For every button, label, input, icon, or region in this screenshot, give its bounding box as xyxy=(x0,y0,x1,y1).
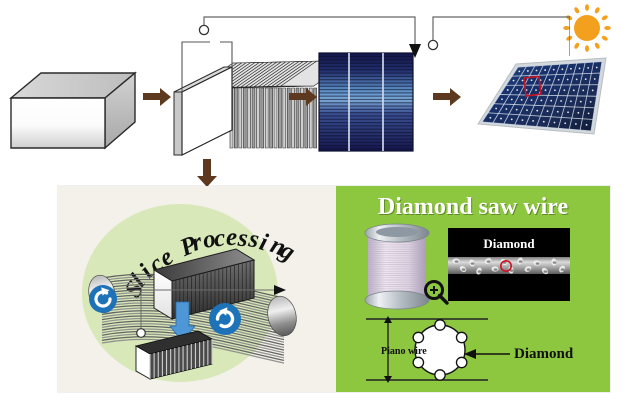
solar-panel-module xyxy=(470,50,610,155)
flow-arrow-3-icon xyxy=(432,86,462,108)
process-detail-panel: Slice Processing xyxy=(58,186,610,392)
sem-wire-strand xyxy=(448,228,570,301)
diamond-saw-wire-pane: Diamond saw wire xyxy=(336,186,610,392)
silicon-ingot xyxy=(8,56,138,156)
diamond-particle-label: Diamond xyxy=(514,346,573,363)
sem-micrograph: Diamond xyxy=(448,228,570,301)
flow-connector-lines xyxy=(150,0,570,62)
slice-processing-pane: Slice Processing xyxy=(58,186,336,392)
solar-cell xyxy=(318,52,414,152)
piano-wire-label: Piano wire xyxy=(381,346,427,357)
rotate-ccw-icon[interactable] xyxy=(88,284,118,314)
rotate-cw-icon[interactable] xyxy=(208,302,242,336)
flow-arrow-down-icon xyxy=(196,158,218,188)
zoom-in-icon[interactable] xyxy=(423,279,449,305)
diamond-saw-wire-title: Diamond saw wire xyxy=(336,194,610,221)
flow-arrow-2-icon xyxy=(288,86,318,108)
figure-canvas: Slice Processing xyxy=(0,0,627,400)
